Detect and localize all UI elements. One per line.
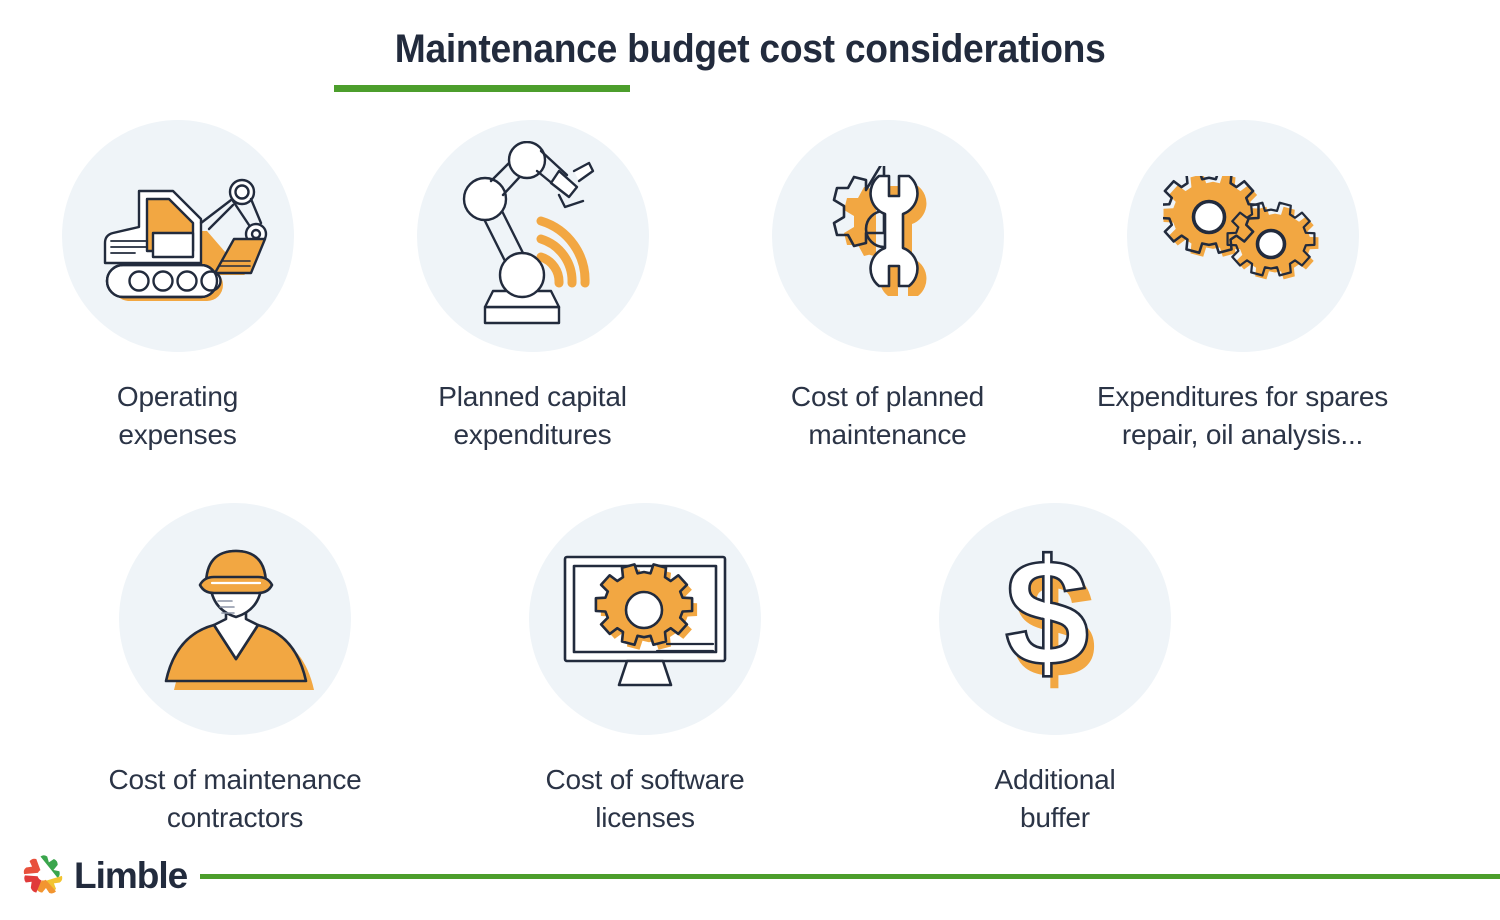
card-additional-buffer[interactable]: $ $ Additional buffer (850, 503, 1260, 837)
card-label-operating-expenses: Operating expenses (117, 378, 238, 454)
icon-circle-planned-maintenance (772, 120, 1004, 352)
card-operating-expenses[interactable]: Operating expenses (0, 120, 355, 454)
card-label-maintenance-contractors: Cost of maintenance contractors (108, 761, 361, 837)
card-label-planned-maintenance: Cost of planned maintenance (791, 378, 984, 454)
brand-wordmark: Limble (74, 857, 187, 894)
svg-text:$: $ (1005, 539, 1090, 698)
icon-circle-planned-capital (417, 120, 649, 352)
icon-circle-maintenance-contractors (119, 503, 351, 735)
card-maintenance-contractors[interactable]: Cost of maintenance contractors (30, 503, 440, 837)
two-gears-icon (1163, 176, 1323, 296)
footer-green-rule (200, 874, 1500, 879)
card-label-additional-buffer: Additional buffer (995, 761, 1116, 837)
items-row-1: Operating expenses (0, 120, 1500, 454)
icon-circle-additional-buffer: $ $ (939, 503, 1171, 735)
robot-arm-icon (443, 141, 623, 331)
limble-pinwheel-icon (22, 854, 64, 896)
icon-circle-operating-expenses (62, 120, 294, 352)
card-planned-capital[interactable]: Planned capital expenditures (355, 120, 710, 454)
gear-wrench-icon (823, 166, 953, 306)
brand-logo[interactable]: Limble (22, 854, 187, 896)
card-spares-repair[interactable]: Expenditures for spares repair, oil anal… (1065, 120, 1420, 454)
card-label-spares-repair: Expenditures for spares repair, oil anal… (1097, 378, 1388, 454)
icon-circle-software-licenses (529, 503, 761, 735)
footer: Limble (0, 848, 1500, 920)
card-planned-maintenance[interactable]: Cost of planned maintenance (710, 120, 1065, 454)
monitor-gear-icon (555, 549, 735, 689)
card-label-planned-capital: Planned capital expenditures (438, 378, 626, 454)
dollar-sign-icon: $ $ (995, 539, 1115, 699)
card-software-licenses[interactable]: Cost of software licenses (440, 503, 850, 837)
card-label-software-licenses: Cost of software licenses (545, 761, 744, 837)
title-underline-rule (334, 85, 630, 92)
page-title-block: Maintenance budget cost considerations (0, 26, 1500, 72)
infographic-page: Maintenance budget cost considerations (0, 0, 1500, 920)
worker-icon (150, 539, 320, 699)
icon-circle-spares-repair (1127, 120, 1359, 352)
items-row-2: Cost of maintenance contractors (30, 503, 1260, 837)
page-title: Maintenance budget cost considerations (395, 26, 1106, 72)
excavator-icon (83, 161, 273, 311)
